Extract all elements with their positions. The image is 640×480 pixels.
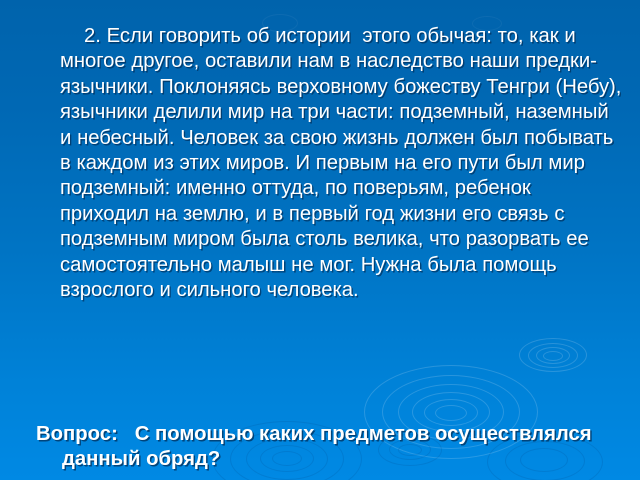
question-text: Вопрос: С помощью каких предметов осущес…: [62, 422, 622, 473]
body-paragraph: 2. Если говорить об истории этого обычая…: [36, 24, 622, 303]
slide-text-content: 2. Если говорить об истории этого обычая…: [0, 0, 640, 480]
presentation-slide: 2. Если говорить об истории этого обычая…: [0, 0, 640, 480]
question-block: Вопрос: С помощью каких предметов осущес…: [36, 371, 622, 480]
